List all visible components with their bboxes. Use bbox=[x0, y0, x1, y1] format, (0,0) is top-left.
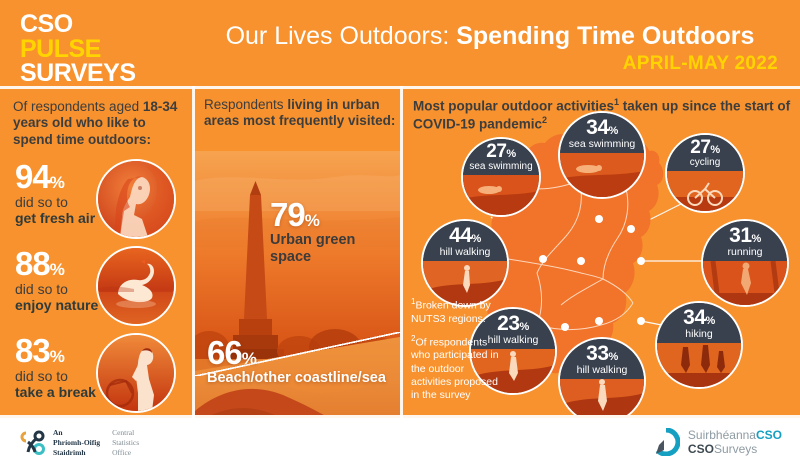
title-prefix: Our Lives Outdoors: bbox=[226, 22, 457, 50]
brand-line-cso: CSO bbox=[20, 12, 136, 37]
speech-bubble-circle-icon bbox=[652, 428, 680, 456]
stat-row: 83% did so to take a break bbox=[13, 335, 182, 409]
activity-badge-south-east[interactable]: 34% hiking bbox=[655, 301, 743, 389]
left-panel: Of respondents aged 18-34 years old who … bbox=[0, 89, 192, 415]
surveys-irish-bold: CSO bbox=[756, 428, 782, 442]
footnote-1-text: Broken down by NUTS3 regions. bbox=[411, 300, 491, 325]
urban-green-space-stat: 79% Urban green space bbox=[270, 199, 390, 266]
hiking-photo bbox=[657, 343, 741, 387]
title-main-text: Spending Time Outdoors bbox=[456, 22, 754, 50]
brand-line-pulse: PULSE bbox=[20, 37, 136, 62]
footnote-1: 1Broken down by NUTS3 regions. bbox=[411, 297, 506, 326]
badge-activity: hill walking bbox=[577, 365, 628, 376]
stat-label: Beach/other coastline/sea bbox=[207, 370, 386, 387]
middle-panel-lead: Respondents living in urban areas most f… bbox=[204, 97, 396, 130]
enjoy-nature-photo bbox=[96, 246, 176, 326]
footnotes: 1Broken down by NUTS3 regions. 2Of respo… bbox=[411, 297, 506, 410]
stat-line-2: take a break bbox=[15, 384, 96, 400]
right-panel: Most popular outdoor activities1 taken u… bbox=[403, 89, 800, 415]
stat-text: 83% did so to take a break bbox=[15, 335, 96, 399]
cso-english-line-3: Office bbox=[112, 448, 139, 458]
cso-emblem-icon bbox=[20, 430, 46, 456]
percent-sign: % bbox=[710, 144, 719, 156]
infographic-poster: CSO PULSE SURVEYS Our Lives Outdoors: Sp… bbox=[0, 0, 800, 467]
surveys-english-light: Surveys bbox=[714, 442, 757, 456]
left-panel-lead: Of respondents aged 18-34 years old who … bbox=[13, 99, 182, 148]
cso-logo: An Phríomh-Oifig Staidrimh Central Stati… bbox=[20, 428, 139, 458]
badge-activity: sea swimming bbox=[469, 162, 532, 173]
stat-value: 79% bbox=[270, 199, 390, 230]
badge-activity: running bbox=[727, 247, 762, 258]
badge-photo-cycling bbox=[667, 171, 743, 211]
fresh-air-photo bbox=[96, 159, 176, 239]
percent-sign: % bbox=[50, 347, 64, 366]
stat-value: 94% bbox=[15, 161, 95, 192]
activity-badge-north-west[interactable]: 27% sea swimming bbox=[461, 137, 541, 217]
brand-line-surveys: SURVEYS bbox=[20, 61, 136, 86]
percent-sign: % bbox=[472, 233, 481, 245]
badge-number: 31 bbox=[729, 224, 751, 247]
percent-sign: % bbox=[242, 349, 256, 368]
stat-value: 66% bbox=[207, 337, 386, 368]
running-photo bbox=[703, 261, 787, 305]
stat-value: 88% bbox=[15, 248, 98, 279]
percent-sign: % bbox=[506, 148, 515, 160]
title-date-range: APRIL-MAY 2022 bbox=[190, 53, 790, 75]
surveys-line-irish: SuirbhéannaCSO bbox=[688, 428, 782, 442]
surveys-line-english: CSOSurveys bbox=[688, 442, 782, 456]
badge-label-area: 27% cycling bbox=[667, 135, 743, 171]
cso-name-english: Central Statistics Office bbox=[112, 428, 139, 458]
cso-pulse-surveys-brand: CSO PULSE SURVEYS bbox=[20, 12, 136, 86]
stat-number: 88 bbox=[15, 245, 50, 282]
badge-number: 27 bbox=[486, 141, 506, 162]
hill-walking-photo bbox=[560, 379, 644, 415]
sea-swimming-photo bbox=[463, 175, 539, 215]
left-lead-thin: Of respondents aged bbox=[13, 99, 139, 114]
badge-value: 34% bbox=[683, 307, 715, 328]
stat-text: 88% did so to enjoy nature bbox=[15, 248, 98, 312]
cso-name-irish: An Phríomh-Oifig Staidrimh bbox=[53, 428, 100, 458]
woman-fresh-air-illustration bbox=[98, 161, 174, 237]
heading-part-1: Most popular outdoor activities bbox=[413, 99, 614, 114]
badge-label-area: 44% hill walking bbox=[423, 221, 507, 261]
percent-sign: % bbox=[520, 321, 529, 333]
badge-number: 34 bbox=[683, 306, 705, 329]
activity-badge-north-east[interactable]: 27% cycling bbox=[665, 133, 745, 213]
badge-label-area: 27% sea swimming bbox=[463, 139, 539, 175]
badge-value: 31% bbox=[729, 225, 761, 246]
stat-number: 79 bbox=[270, 196, 305, 233]
badge-activity: hiking bbox=[685, 329, 712, 340]
mid-lead-thin: Respondents bbox=[204, 97, 287, 112]
percent-sign: % bbox=[752, 233, 761, 245]
badge-number: 33 bbox=[586, 342, 608, 365]
cso-surveys-logo: SuirbhéannaCSO CSOSurveys bbox=[652, 428, 782, 457]
stat-line-2: get fresh air bbox=[15, 210, 95, 226]
page-title: Our Lives Outdoors: Spending Time Outdoo… bbox=[190, 22, 790, 51]
badge-number: 44 bbox=[449, 224, 471, 247]
swan-on-water-illustration bbox=[98, 248, 174, 324]
activity-badge-south[interactable]: 33% hill walking bbox=[558, 337, 646, 415]
cso-spiral-icon bbox=[20, 430, 46, 456]
badge-value: 33% bbox=[586, 343, 618, 364]
activity-badge-east[interactable]: 31% running bbox=[701, 219, 789, 307]
percent-sign: % bbox=[609, 351, 618, 363]
badge-label-area: 31% running bbox=[703, 221, 787, 261]
stat-text: 94% did so to get fresh air bbox=[15, 161, 95, 225]
badge-value: 44% bbox=[449, 225, 481, 246]
stat-number: 94 bbox=[15, 158, 50, 195]
badge-label-area: 33% hill walking bbox=[560, 339, 644, 379]
stat-row: 88% did so to enjoy nature bbox=[13, 248, 182, 322]
surveys-english-bold: CSO bbox=[688, 442, 714, 456]
stat-value: 83% bbox=[15, 335, 96, 366]
percent-sign: % bbox=[50, 173, 64, 192]
cso-irish-line-3: Staidrimh bbox=[53, 448, 100, 458]
percent-sign: % bbox=[50, 260, 64, 279]
badge-photo-hill-walking bbox=[560, 379, 644, 415]
surveys-logo-text: SuirbhéannaCSO CSOSurveys bbox=[688, 428, 782, 457]
badge-photo-sea-swimming bbox=[560, 153, 644, 197]
footnote-2-text: Of respondents who participated in the o… bbox=[411, 336, 499, 401]
beach-coastline-stat: 66% Beach/other coastline/sea bbox=[207, 337, 386, 387]
badge-activity: hill walking bbox=[440, 247, 491, 258]
badge-number: 27 bbox=[690, 137, 710, 158]
stat-line-1: did so to bbox=[15, 194, 95, 210]
footnote-ref-2: 2 bbox=[542, 115, 547, 125]
badge-value: 27% bbox=[486, 142, 515, 161]
badge-label-area: 34% hiking bbox=[657, 303, 741, 343]
take-a-break-photo bbox=[96, 333, 176, 413]
stat-number: 66 bbox=[207, 334, 242, 371]
title-block: Our Lives Outdoors: Spending Time Outdoo… bbox=[190, 22, 790, 75]
sea-swimming-photo bbox=[560, 153, 644, 197]
cyclist-resting-illustration bbox=[98, 335, 174, 411]
cso-irish-line-1: An bbox=[53, 428, 100, 438]
stat-row: 94% did so to get fresh air bbox=[13, 161, 182, 235]
badge-photo-hiking bbox=[657, 343, 741, 387]
surveys-irish-light: Suirbhéanna bbox=[688, 428, 756, 442]
percent-sign: % bbox=[305, 211, 319, 230]
surveys-emblem-icon bbox=[652, 428, 680, 456]
stat-line-1: did so to bbox=[15, 281, 98, 297]
header: CSO PULSE SURVEYS Our Lives Outdoors: Sp… bbox=[0, 0, 800, 86]
stat-number: 83 bbox=[15, 332, 50, 369]
cso-irish-line-2: Phríomh-Oifig bbox=[53, 438, 100, 448]
footnote-2: 2Of respondents who participated in the … bbox=[411, 334, 506, 402]
badge-activity: cycling bbox=[690, 158, 721, 169]
activity-badge-west[interactable]: 44% hill walking bbox=[421, 219, 509, 307]
cycling-photo bbox=[667, 171, 743, 211]
cso-logo-text: An Phríomh-Oifig Staidrimh Central Stati… bbox=[53, 428, 139, 458]
percent-sign: % bbox=[706, 315, 715, 327]
cso-english-line-2: Statistics bbox=[112, 438, 139, 448]
badge-photo-sea-swimming bbox=[463, 175, 539, 215]
right-panel-heading: Most popular outdoor activities1 taken u… bbox=[413, 97, 793, 134]
cso-english-line-1: Central bbox=[112, 428, 139, 438]
middle-panel: Respondents living in urban areas most f… bbox=[195, 89, 400, 415]
stat-label: Urban green space bbox=[270, 232, 390, 265]
stat-line-2: enjoy nature bbox=[15, 297, 98, 313]
badge-value: 27% bbox=[690, 138, 719, 157]
badge-photo-running bbox=[703, 261, 787, 305]
stat-line-1: did so to bbox=[15, 368, 96, 384]
footer: An Phríomh-Oifig Staidrimh Central Stati… bbox=[0, 418, 800, 467]
badge-activity: sea swimming bbox=[569, 139, 636, 150]
